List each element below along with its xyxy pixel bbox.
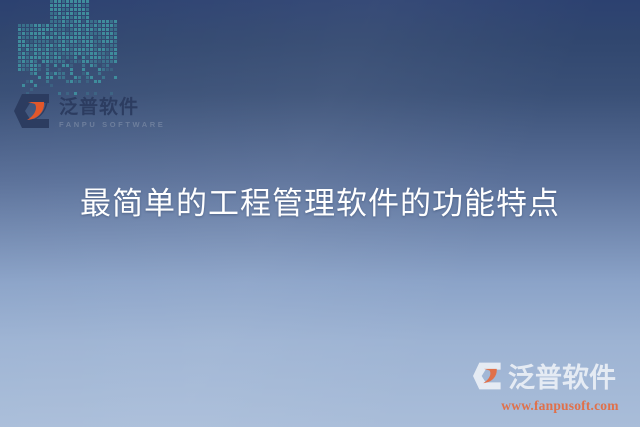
watermark-logo-row: 泛普软件 <box>472 361 632 396</box>
watermark-name-cn: 泛普软件 <box>508 365 616 392</box>
brand-logo-text: 泛普软件 FANPU SOFTWARE <box>59 98 165 129</box>
brand-logo: 泛普软件 FANPU SOFTWARE <box>13 92 165 135</box>
skyline-tower <box>86 20 117 95</box>
watermark: 泛普软件 www.fanpusoft.com <box>472 361 632 419</box>
skyline-tower <box>50 0 89 95</box>
fanpu-hexagon-mark-icon <box>13 92 53 135</box>
brand-name-cn: 泛普软件 <box>59 98 165 117</box>
pixel-skyline-decoration <box>0 0 150 95</box>
slide-canvas: 泛普软件 FANPU SOFTWARE 最简单的工程管理软件的功能特点 泛普软件… <box>0 0 640 427</box>
page-title: 最简单的工程管理软件的功能特点 <box>0 178 640 223</box>
brand-name-en: FANPU SOFTWARE <box>59 121 165 129</box>
fanpu-hexagon-mark-icon <box>472 361 504 396</box>
watermark-url: www.fanpusoft.com <box>472 398 632 414</box>
skyline-tower <box>18 24 49 95</box>
